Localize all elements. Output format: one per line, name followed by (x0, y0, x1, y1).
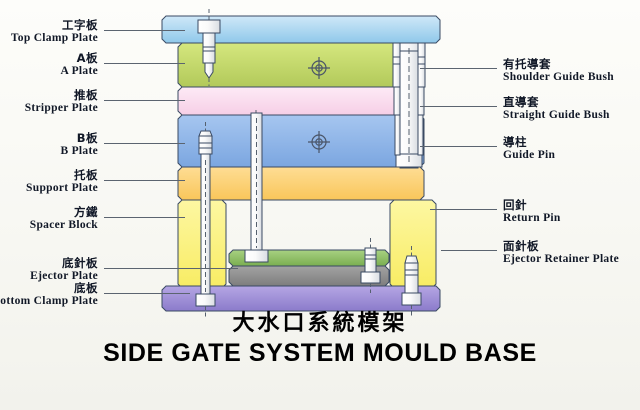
label-english: A Plate (60, 65, 98, 78)
label-bottom-clamp-plate: 底板Bottom Clamp Plate (0, 282, 98, 308)
leader-line (420, 68, 497, 69)
label-english: Top Clamp Plate (11, 32, 98, 45)
label-stripper-plate: 推板Stripper Plate (25, 89, 98, 115)
plate-b-plate (178, 115, 424, 167)
leader-line (420, 106, 497, 107)
label-support-plate: 托板Support Plate (26, 169, 98, 195)
label-chinese: 面針板 (503, 240, 619, 253)
leader-line (104, 180, 185, 181)
label-english: Return Pin (503, 212, 561, 225)
leader-line (104, 63, 185, 64)
leader-line (104, 143, 185, 144)
mould-base-diagram-page: 工字板Top Clamp PlateA板A Plate推板Stripper Pl… (0, 0, 640, 410)
label-spacer-block: 方鐵Spacer Block (30, 206, 98, 232)
plate-support-plate (178, 167, 424, 200)
label-chinese: 推板 (25, 89, 98, 102)
label-chinese: B板 (60, 132, 98, 145)
label-shoulder-guide-bush: 有托導套Shoulder Guide Bush (503, 58, 614, 84)
label-english: Straight Guide Bush (503, 109, 610, 122)
label-a-plate: A板A Plate (60, 52, 98, 78)
label-english: B Plate (60, 145, 98, 158)
leader-line (104, 100, 185, 101)
leader-line (420, 146, 497, 147)
label-chinese: 方鐵 (30, 206, 98, 219)
label-top-clamp-plate: 工字板Top Clamp Plate (11, 19, 98, 45)
label-chinese: 回針 (503, 199, 561, 212)
label-chinese: 導柱 (503, 136, 555, 149)
plate-stripper-plate (178, 87, 424, 115)
label-english: Stripper Plate (25, 102, 98, 115)
label-chinese: 直導套 (503, 96, 610, 109)
label-chinese: 底針板 (30, 257, 98, 270)
label-chinese: 底板 (0, 282, 98, 295)
diagram-title: 大水口系統模架 SIDE GATE SYSTEM MOULD BASE (0, 310, 640, 369)
label-chinese: 托板 (26, 169, 98, 182)
title-chinese: 大水口系統模架 (0, 310, 640, 338)
leader-line (430, 209, 497, 210)
leader-line (104, 30, 185, 31)
label-straight-guide-bush: 直導套Straight Guide Bush (503, 96, 610, 122)
label-chinese: 工字板 (11, 19, 98, 32)
label-chinese: 有托導套 (503, 58, 614, 71)
label-english: Spacer Block (30, 219, 98, 232)
label-english: Guide Pin (503, 149, 555, 162)
label-english: Shoulder Guide Bush (503, 71, 614, 84)
label-english: Bottom Clamp Plate (0, 295, 98, 308)
label-english: Support Plate (26, 182, 98, 195)
label-ejector-plate: 底針板Ejector Plate (30, 257, 98, 283)
leader-line (104, 293, 190, 294)
label-ejector-retainer-plate: 面針板Ejector Retainer Plate (503, 240, 619, 266)
label-b-plate: B板B Plate (60, 132, 98, 158)
leader-line (104, 217, 185, 218)
title-english: SIDE GATE SYSTEM MOULD BASE (0, 338, 640, 369)
label-guide-pin: 導柱Guide Pin (503, 136, 555, 162)
leader-line (441, 250, 497, 251)
label-return-pin: 回針Return Pin (503, 199, 561, 225)
leader-line (104, 268, 238, 269)
label-english: Ejector Retainer Plate (503, 253, 619, 266)
label-chinese: A板 (60, 52, 98, 65)
